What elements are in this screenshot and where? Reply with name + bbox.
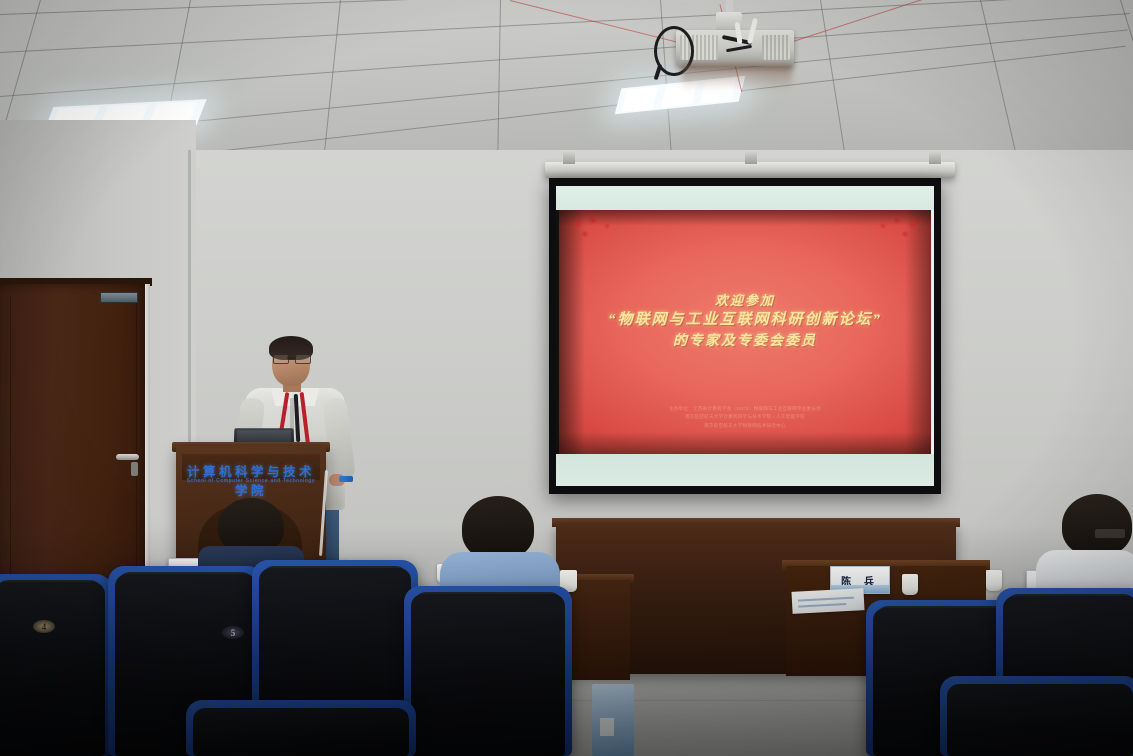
slide-corner-motif-right [865, 212, 925, 242]
podium-label-english: School of Computer Science and Technolog… [182, 478, 320, 484]
slide-footnote-line-1: 主办单位：江苏省计算机学会（JSCS）物联网与工业互联网专业委员会 [559, 405, 931, 413]
glasses-icon [273, 354, 309, 362]
seat-number-4: 4 [33, 620, 55, 633]
document-sheet-1 [791, 588, 864, 614]
slide-corner-motif-left [565, 212, 625, 242]
conference-bag [592, 684, 634, 756]
presentation-slide: 欢迎参加 “物联网与工业互联网科研创新论坛” 的专家及专委会委员 主办单位：江苏… [559, 210, 931, 454]
slide-line-3: 的专家及专委会委员 [559, 332, 931, 352]
attendee-right-glasses-icon [1094, 528, 1126, 539]
room-door[interactable] [0, 284, 148, 586]
paper-cup-2 [902, 574, 918, 595]
chair-row2-center[interactable] [404, 586, 572, 756]
seat-number-5-text: 5 [231, 628, 236, 638]
slide-footnote: 主办单位：江苏省计算机学会（JSCS）物联网与工业互联网专业委员会 南京航空航天… [559, 405, 931, 430]
screen-housing [545, 162, 955, 178]
slide-footnote-line-2: 南京航空航天大学计算机科学与技术学院 / 人工智能学院 [559, 413, 931, 421]
slide-line-1: 欢迎参加 [559, 292, 931, 310]
screen-band-bottom [556, 454, 934, 486]
screen-band-top [556, 186, 934, 210]
presenter-pointer [339, 476, 353, 482]
chair-foreground-center[interactable] [186, 700, 416, 756]
slide-title-block: 欢迎参加 “物联网与工业互联网科研创新论坛” 的专家及专委会委员 [559, 292, 931, 352]
podium-sign: 计算机科学与技术学院 School of Computer Science an… [182, 454, 320, 480]
seat-number-4-text: 4 [42, 622, 47, 632]
chair-row1-left[interactable] [0, 574, 112, 756]
slide-footnote-line-3: 南京航空航天大学物联网技术研究中心 [559, 422, 931, 430]
projector-vent-right [762, 35, 790, 60]
seat-number-5: 5 [222, 626, 244, 639]
projector-shadow [682, 64, 792, 90]
conference-room-photo: 欢迎参加 “物联网与工业互联网科研创新论坛” 的专家及专委会委员 主办单位：江苏… [0, 0, 1133, 756]
projection-screen: 欢迎参加 “物联网与工业互联网科研创新论坛” 的专家及专委会委员 主办单位：江苏… [556, 186, 934, 486]
slide-line-2: “物联网与工业互联网科研创新论坛” [559, 310, 931, 331]
door-frame-edge [145, 284, 150, 586]
door-lock[interactable] [131, 462, 138, 476]
paper-cup-3 [986, 570, 1002, 591]
door-sign-plate [100, 292, 138, 303]
door-handle[interactable] [116, 454, 139, 460]
bag-label [600, 718, 614, 736]
chair-foreground-right[interactable] [940, 676, 1133, 756]
